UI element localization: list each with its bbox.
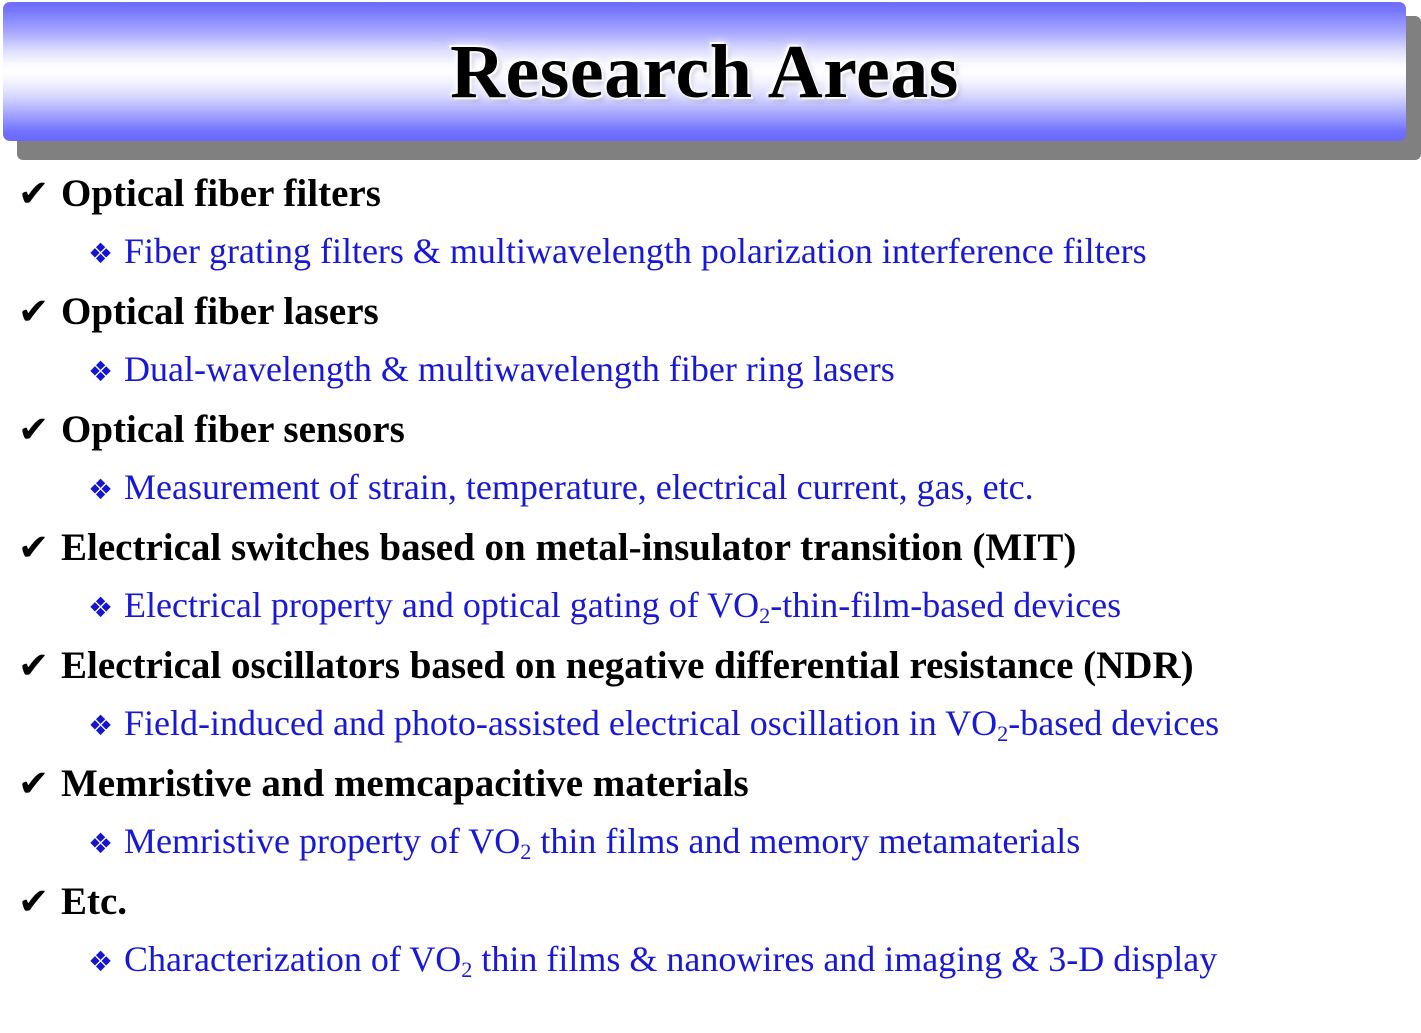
diamond-bullet-icon: ❖ <box>88 948 124 976</box>
bullet-level1-label: Electrical oscillators based on negative… <box>61 646 1194 685</box>
slide-content: ✔Optical fiber filters❖Fiber grating fil… <box>0 174 1421 1000</box>
bullet-item-level1: ✔Optical fiber sensors <box>0 410 1421 469</box>
bullet-level2-text-post: thin films & nanowires and imaging & 3-D… <box>472 939 1217 979</box>
bullet-level2-text-pre: Memristive property of VO <box>124 821 520 861</box>
bullet-level2-label: Fiber grating filters & multiwavelength … <box>124 233 1147 269</box>
bullet-item-level1: ✔Electrical oscillators based on negativ… <box>0 646 1421 705</box>
bullet-item-level1: ✔Etc. <box>0 882 1421 941</box>
bullet-item-level2: ❖Measurement of strain, temperature, ele… <box>0 469 1421 528</box>
bullet-level2-text-pre: Field-induced and photo-assisted electri… <box>124 703 997 743</box>
bullet-level2-label: Characterization of VO2 thin films & nan… <box>124 941 1217 982</box>
bullet-level1-label: Electrical switches based on metal-insul… <box>61 528 1076 567</box>
checkmark-icon: ✔ <box>18 883 61 920</box>
bullet-level1-label: Optical fiber filters <box>61 174 381 213</box>
bullet-item-level2: ❖Memristive property of VO2 thin films a… <box>0 823 1421 882</box>
bullet-item-level1: ✔Optical fiber lasers <box>0 292 1421 351</box>
checkmark-icon: ✔ <box>18 411 61 448</box>
diamond-bullet-icon: ❖ <box>88 594 124 622</box>
checkmark-icon: ✔ <box>18 765 61 802</box>
bullet-level2-text-post: -thin-film-based devices <box>770 585 1121 625</box>
bullet-level1-label: Etc. <box>61 882 127 921</box>
title-banner: Research Areas <box>3 2 1406 141</box>
chemical-subscript: 2 <box>461 957 472 982</box>
diamond-bullet-icon: ❖ <box>88 240 124 268</box>
bullet-item-level2: ❖Fiber grating filters & multiwavelength… <box>0 233 1421 292</box>
chemical-subscript: 2 <box>759 603 770 628</box>
bullet-level2-label: Electrical property and optical gating o… <box>124 587 1121 628</box>
diamond-bullet-icon: ❖ <box>88 712 124 740</box>
checkmark-icon: ✔ <box>18 647 61 684</box>
diamond-bullet-icon: ❖ <box>88 830 124 858</box>
bullet-level2-text-post: thin films and memory metamaterials <box>531 821 1080 861</box>
bullet-level2-text-pre: Measurement of strain, temperature, elec… <box>124 467 1034 507</box>
page-title: Research Areas <box>450 34 959 110</box>
bullet-item-level2: ❖Characterization of VO2 thin films & na… <box>0 941 1421 1000</box>
bullet-level1-label: Memristive and memcapacitive materials <box>61 764 749 803</box>
diamond-bullet-icon: ❖ <box>88 476 124 504</box>
bullet-level2-label: Dual-wavelength & multiwavelength fiber … <box>124 351 895 387</box>
checkmark-icon: ✔ <box>18 293 61 330</box>
chemical-subscript: 2 <box>997 721 1008 746</box>
bullet-level2-label: Memristive property of VO2 thin films an… <box>124 823 1080 864</box>
bullet-level2-text-pre: Characterization of VO <box>124 939 461 979</box>
bullet-level1-label: Optical fiber sensors <box>61 410 405 449</box>
bullet-item-level1: ✔Electrical switches based on metal-insu… <box>0 528 1421 587</box>
bullet-level2-label: Measurement of strain, temperature, elec… <box>124 469 1034 505</box>
bullet-level2-label: Field-induced and photo-assisted electri… <box>124 705 1219 746</box>
checkmark-icon: ✔ <box>18 175 61 212</box>
checkmark-icon: ✔ <box>18 529 61 566</box>
bullet-item-level2: ❖Field-induced and photo-assisted electr… <box>0 705 1421 764</box>
bullet-level2-text-pre: Fiber grating filters & multiwavelength … <box>124 231 1147 271</box>
bullet-level1-label: Optical fiber lasers <box>61 292 379 331</box>
bullet-item-level1: ✔Optical fiber filters <box>0 174 1421 233</box>
bullet-level2-text-post: -based devices <box>1008 703 1219 743</box>
bullet-item-level2: ❖Electrical property and optical gating … <box>0 587 1421 646</box>
bullet-item-level1: ✔Memristive and memcapacitive materials <box>0 764 1421 823</box>
chemical-subscript: 2 <box>520 839 531 864</box>
bullet-level2-text-pre: Electrical property and optical gating o… <box>124 585 759 625</box>
title-banner-region: Research Areas <box>0 0 1421 168</box>
bullet-level2-text-pre: Dual-wavelength & multiwavelength fiber … <box>124 349 895 389</box>
bullet-item-level2: ❖Dual-wavelength & multiwavelength fiber… <box>0 351 1421 410</box>
diamond-bullet-icon: ❖ <box>88 358 124 386</box>
